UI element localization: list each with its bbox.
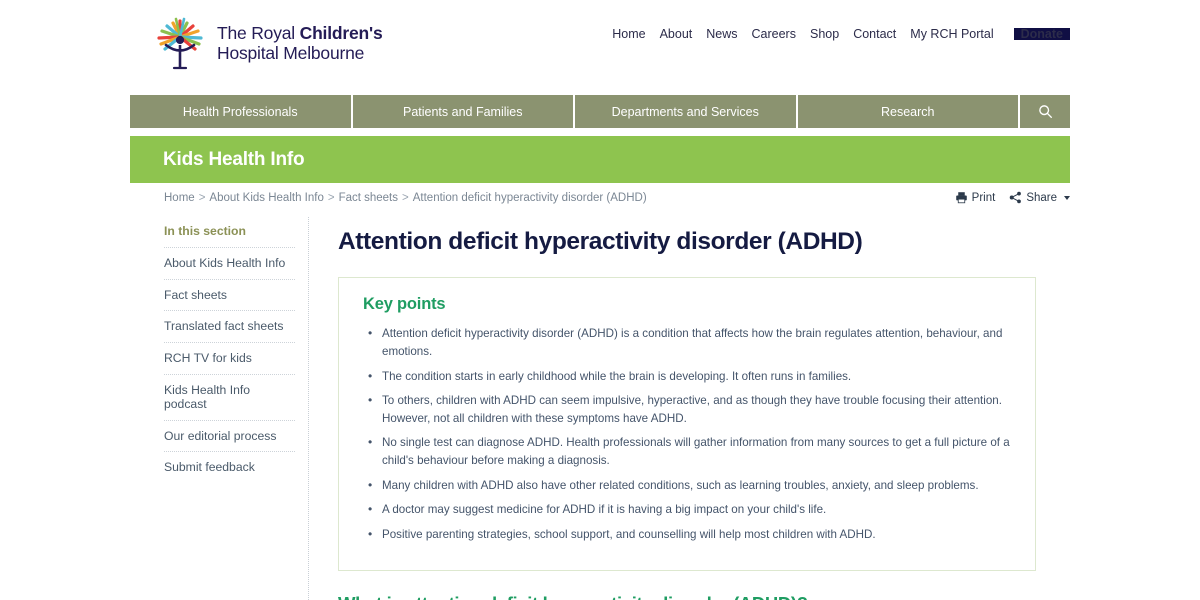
section-banner: Kids Health Info [130,136,1070,183]
print-button[interactable]: Print [955,191,996,204]
rch-tree-person-icon [152,15,208,73]
sidebar-item-fact-sheets[interactable]: Fact sheets [164,279,295,311]
page-title: Attention deficit hyperactivity disorder… [338,227,1038,256]
sidebar-item-about-kids-health-info[interactable]: About Kids Health Info [164,247,295,279]
printer-icon [955,191,968,204]
list-item: Attention deficit hyperactivity disorder… [380,325,1011,360]
page-root: The Royal Children's Hospital Melbourne … [0,0,1200,600]
list-item: A doctor may suggest medicine for ADHD i… [380,501,1011,519]
site-logo[interactable]: The Royal Children's Hospital Melbourne [152,15,383,73]
sidebar-item-translated-fact-sheets[interactable]: Translated fact sheets [164,310,295,342]
main-navigation: Health Professionals Patients and Famili… [130,95,1070,128]
section-heading: What is attention deficit hyperactivity … [338,593,1038,600]
breadcrumb-item-current: Attention deficit hyperactivity disorder… [413,192,647,204]
site-header: The Royal Children's Hospital Melbourne … [130,0,1070,92]
logo-line1-plain: The Royal [217,23,300,43]
page-body: In this section About Kids Health Info F… [130,215,1070,600]
breadcrumb-item-about-kids-health-info[interactable]: About Kids Health Info [209,192,323,204]
sidebar-item-kids-health-info-podcast[interactable]: Kids Health Info podcast [164,374,295,420]
topnav-item-news[interactable]: News [699,27,744,41]
key-points-box: Key points Attention deficit hyperactivi… [338,277,1036,571]
list-item: No single test can diagnose ADHD. Health… [380,434,1011,469]
key-points-heading: Key points [363,295,1011,314]
topnav-item-about[interactable]: About [653,27,700,41]
top-navigation: Home About News Careers Shop Contact My … [605,27,1070,41]
breadcrumb-separator: > [195,192,210,204]
search-icon [1038,104,1053,119]
sidebar-heading: In this section [164,215,295,247]
list-item: Many children with ADHD also have other … [380,477,1011,495]
sidebar-item-submit-feedback[interactable]: Submit feedback [164,451,295,483]
logo-line2: Hospital Melbourne [217,44,383,64]
nav-tab-research[interactable]: Research [798,95,1019,128]
list-item: Positive parenting strategies, school su… [380,526,1011,544]
banner-title: Kids Health Info [163,149,304,171]
breadcrumb-item-home[interactable]: Home [164,192,195,204]
list-item: The condition starts in early childhood … [380,368,1011,386]
main-content: Attention deficit hyperactivity disorder… [338,215,1038,600]
sidebar-navigation: In this section About Kids Health Info F… [164,215,295,483]
breadcrumb-item-fact-sheets[interactable]: Fact sheets [339,192,398,204]
topnav-item-shop[interactable]: Shop [803,27,846,41]
breadcrumb-separator: > [398,192,413,204]
page-utilities: Print Share [955,191,1070,204]
list-item: To others, children with ADHD can seem i… [380,392,1011,427]
breadcrumb: Home>About Kids Health Info>Fact sheets>… [164,192,647,204]
donate-button[interactable]: Donate [1014,28,1070,41]
key-points-list: Attention deficit hyperactivity disorder… [363,325,1011,543]
nav-search-button[interactable] [1020,95,1070,128]
nav-tab-departments-and-services[interactable]: Departments and Services [575,95,796,128]
topnav-item-contact[interactable]: Contact [846,27,903,41]
topnav-item-careers[interactable]: Careers [745,27,803,41]
logo-line1-bold: Children's [300,23,383,43]
print-label: Print [972,192,996,204]
share-button[interactable]: Share [1009,191,1070,204]
topnav-item-my-rch-portal[interactable]: My RCH Portal [903,27,1000,41]
nav-tab-patients-and-families[interactable]: Patients and Families [353,95,574,128]
breadcrumb-row: Home>About Kids Health Info>Fact sheets>… [130,183,1070,215]
share-nodes-icon [1009,191,1022,204]
logo-wordmark: The Royal Children's Hospital Melbourne [217,24,383,63]
chevron-down-icon [1064,196,1070,200]
share-label: Share [1026,192,1057,204]
nav-tab-health-professionals[interactable]: Health Professionals [130,95,351,128]
sidebar-divider [308,217,309,600]
breadcrumb-separator: > [324,192,339,204]
sidebar-item-rch-tv-for-kids[interactable]: RCH TV for kids [164,342,295,374]
topnav-item-home[interactable]: Home [605,27,652,41]
sidebar-item-our-editorial-process[interactable]: Our editorial process [164,420,295,452]
